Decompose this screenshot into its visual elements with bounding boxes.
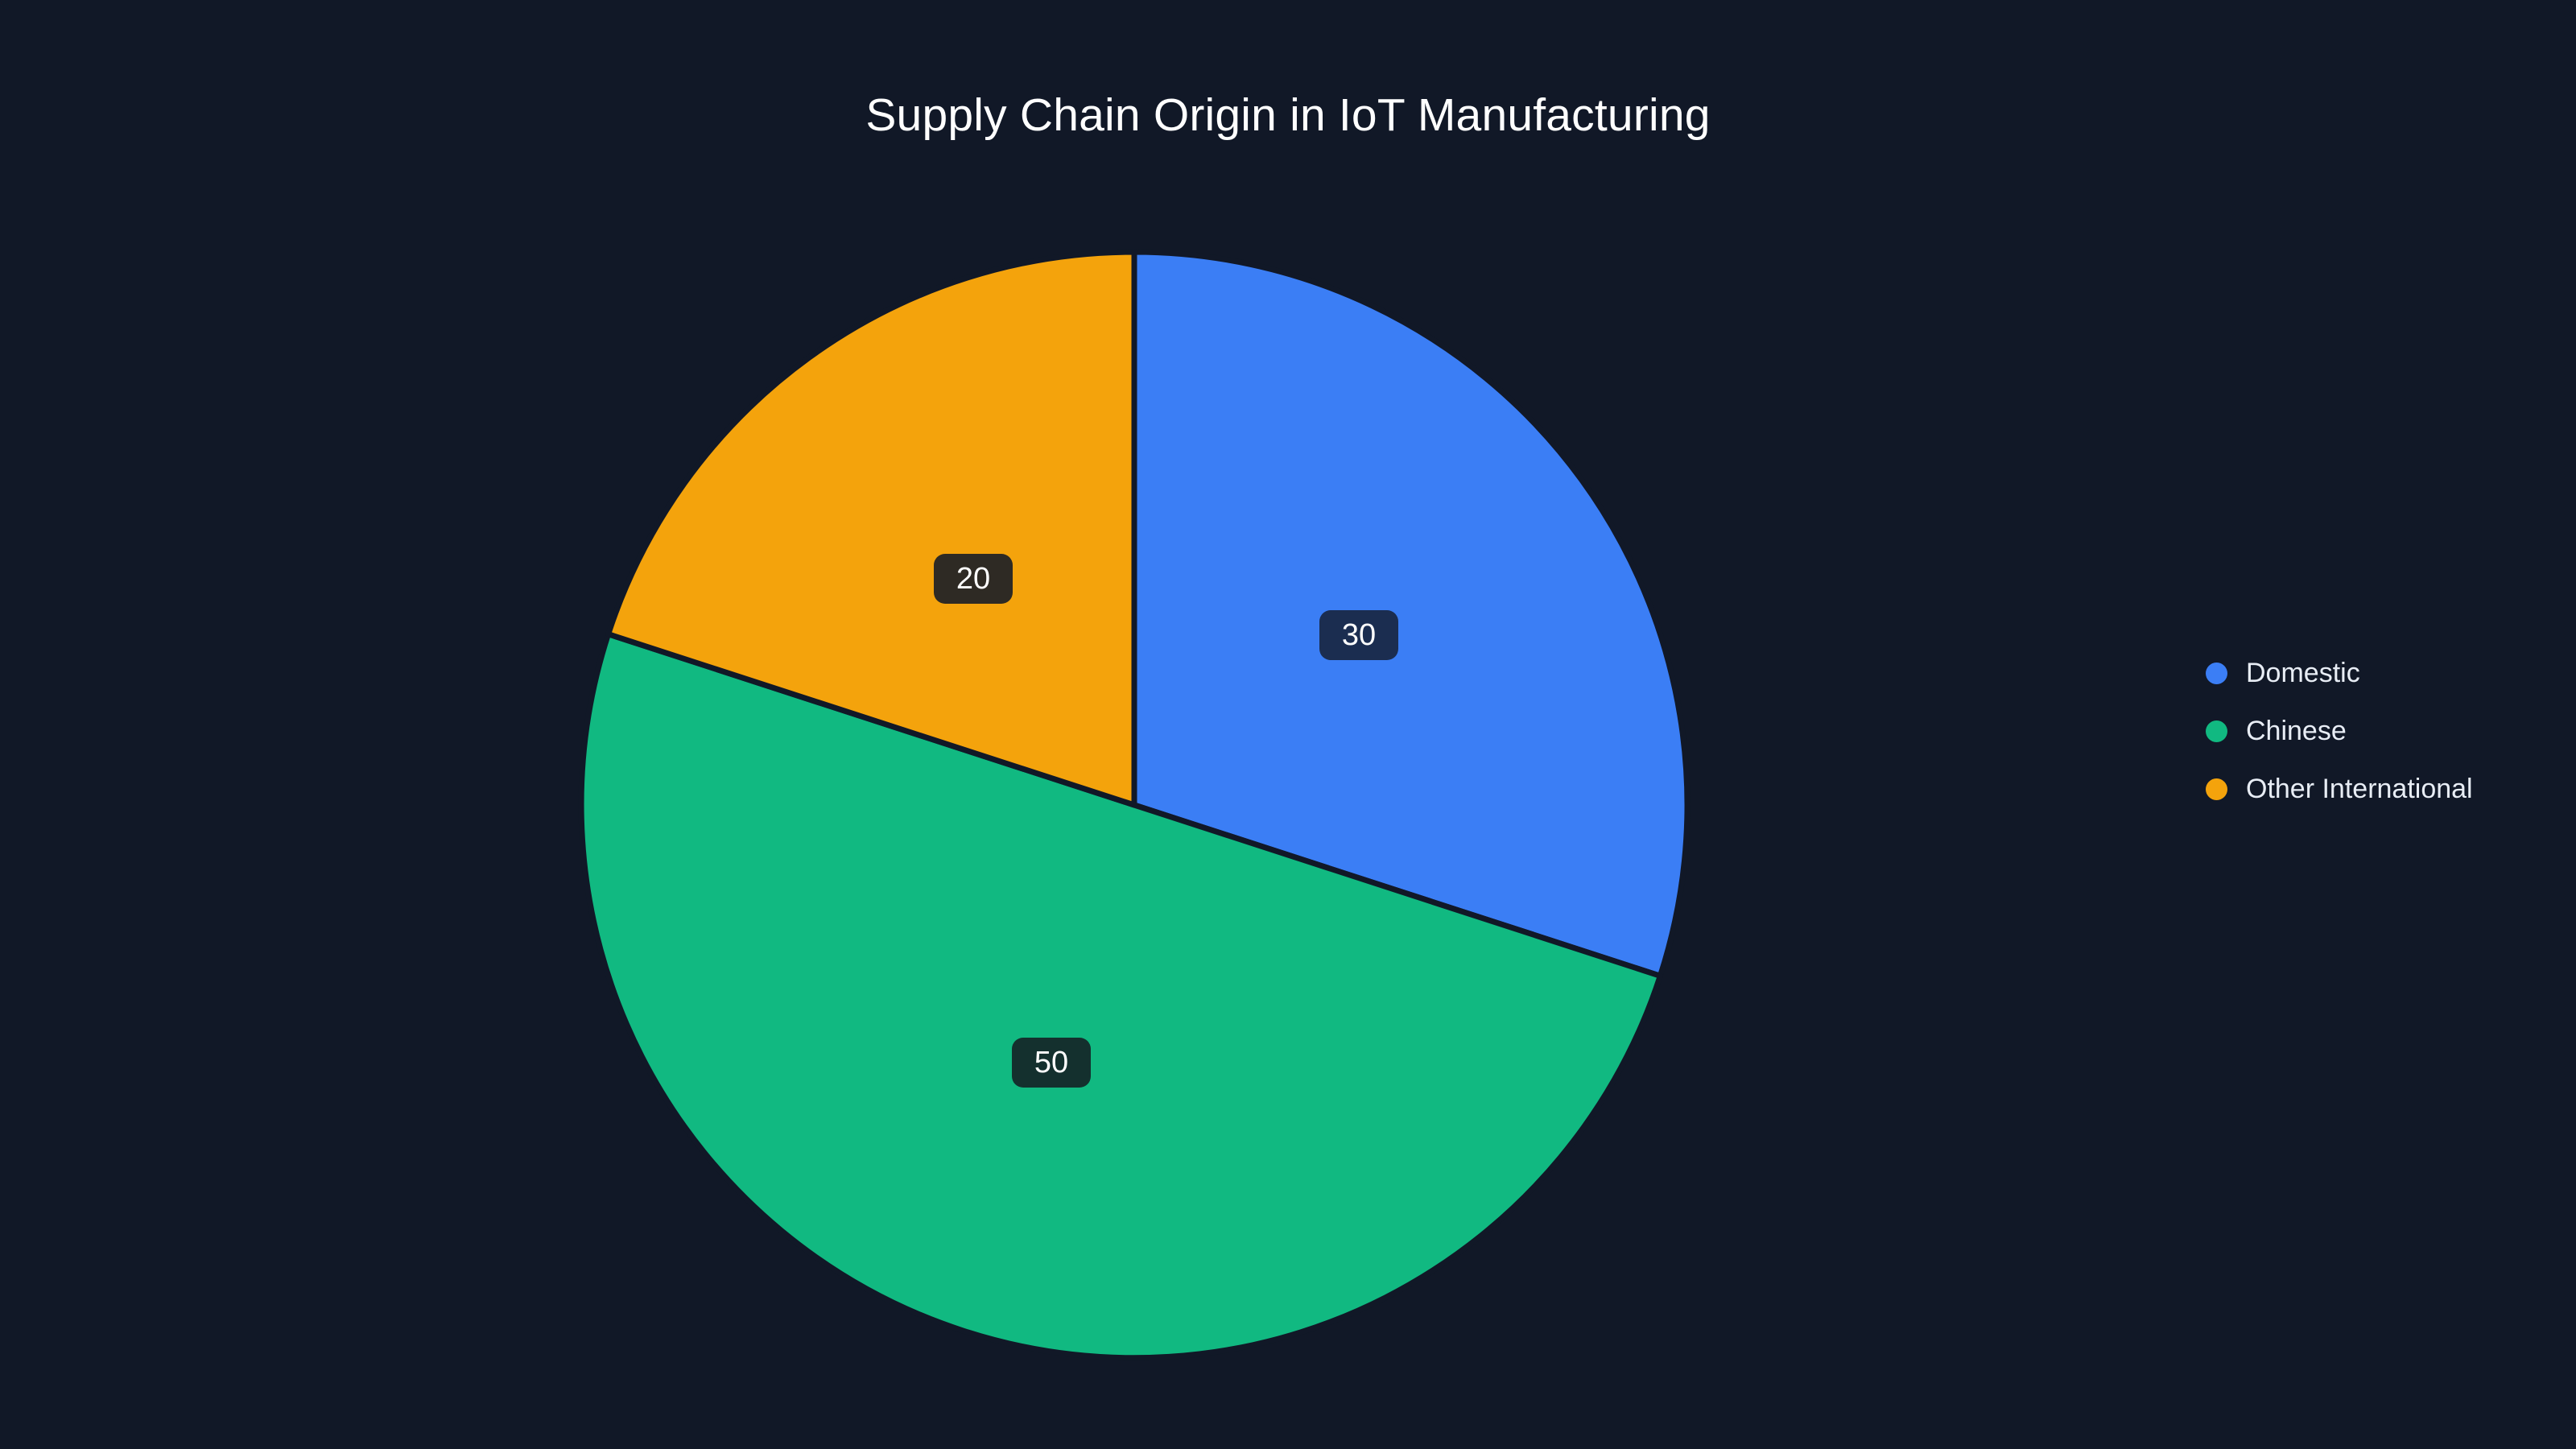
chart-canvas: Supply Chain Origin in IoT Manufacturing… (0, 0, 2576, 1449)
legend-item-other-international[interactable]: Other International (2206, 760, 2544, 818)
pie-chart-plot (0, 0, 2576, 1449)
pie-slices-group (581, 252, 1687, 1358)
legend-swatch-icon (2206, 663, 2227, 684)
pie-slice-value-label: 20 (934, 554, 1013, 604)
legend-item-chinese[interactable]: Chinese (2206, 702, 2544, 760)
pie-slice-value-label: 50 (1012, 1038, 1091, 1088)
pie-slice-value-label: 30 (1319, 610, 1398, 660)
chart-legend: DomesticChineseOther International (2206, 644, 2544, 818)
pie-slice-value-text: 50 (1034, 1047, 1068, 1078)
pie-slice-value-text: 20 (956, 563, 990, 594)
legend-swatch-icon (2206, 720, 2227, 742)
legend-item-label: Chinese (2246, 717, 2347, 745)
pie-slice-value-text: 30 (1342, 620, 1376, 650)
legend-item-label: Domestic (2246, 659, 2360, 687)
legend-item-domestic[interactable]: Domestic (2206, 644, 2544, 702)
legend-swatch-icon (2206, 778, 2227, 800)
legend-item-label: Other International (2246, 775, 2473, 803)
